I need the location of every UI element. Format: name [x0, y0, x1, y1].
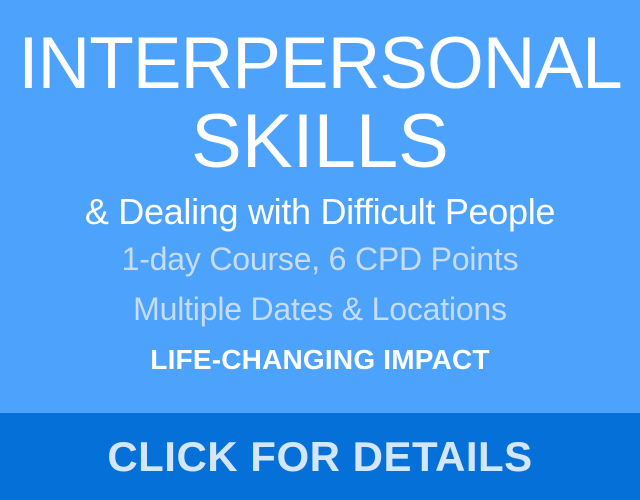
cta-button-label: CLICK FOR DETAILS — [107, 433, 532, 481]
banner-content: INTERPERSONAL SKILLS & Dealing with Diff… — [0, 0, 640, 413]
detail-line-dates: Multiple Dates & Locations — [0, 289, 640, 330]
cta-button[interactable]: CLICK FOR DETAILS — [0, 413, 640, 500]
impact-tagline: LIFE-CHANGING IMPACT — [0, 342, 640, 378]
advertisement-banner[interactable]: INTERPERSONAL SKILLS & Dealing with Diff… — [0, 0, 640, 500]
headline-line-2: SKILLS — [0, 102, 640, 182]
subheadline: & Dealing with Difficult People — [0, 190, 640, 234]
headline-line-1: INTERPERSONAL — [0, 24, 640, 104]
detail-line-course: 1-day Course, 6 CPD Points — [0, 239, 640, 280]
